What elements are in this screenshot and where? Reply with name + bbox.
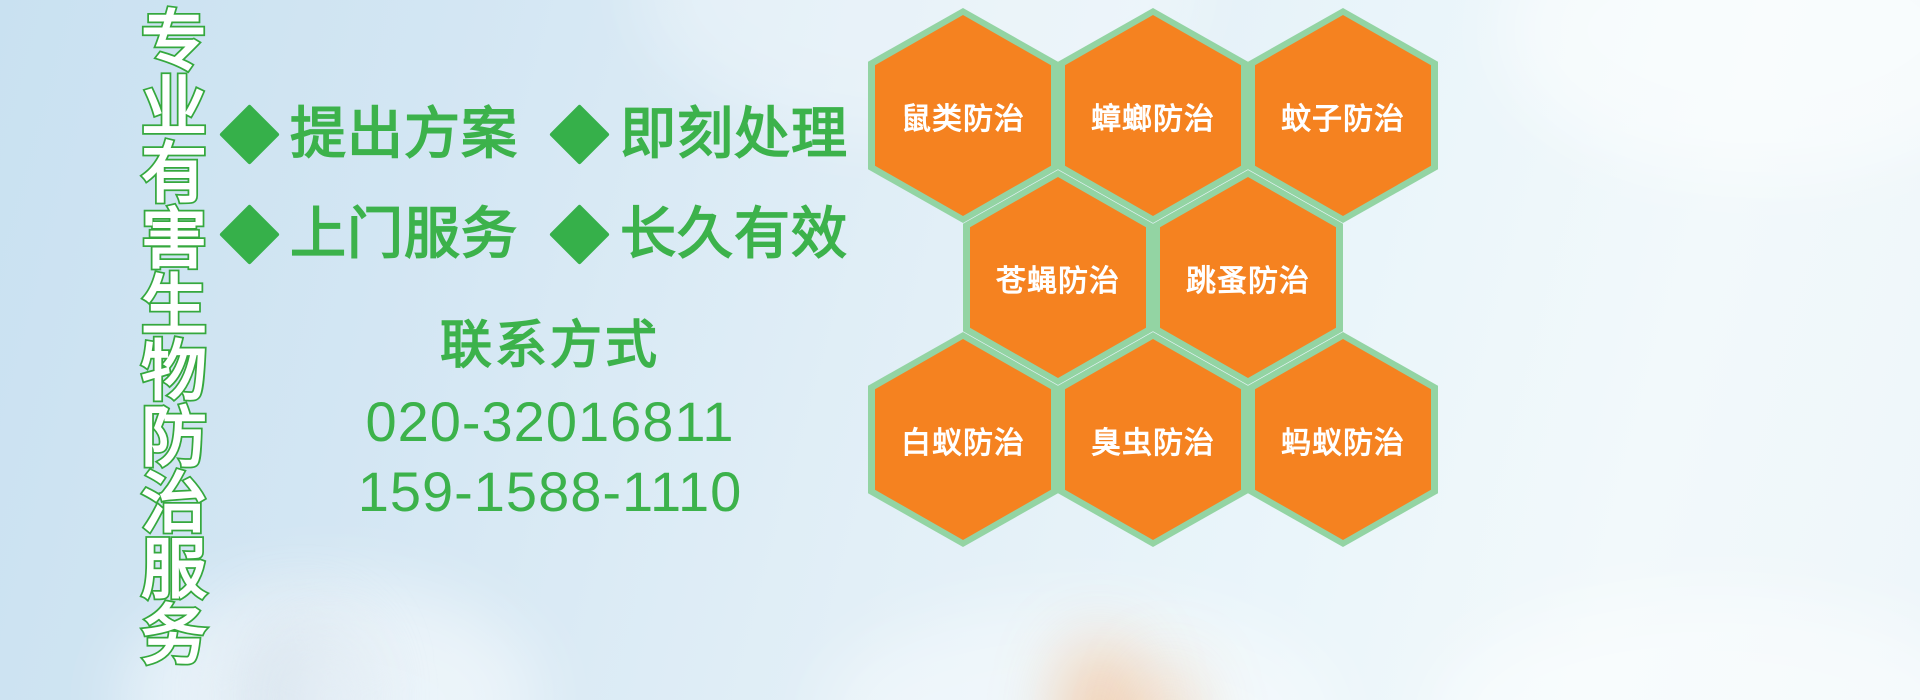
bg-blob <box>1060 640 1140 700</box>
diamond-icon <box>219 104 280 165</box>
feature-label: 上门服务 <box>290 206 518 262</box>
bg-blob <box>1430 590 1920 700</box>
contact-block: 联系方式 020-32016811 159-1588-1110 <box>230 316 870 527</box>
service-honeycomb: 鼠类防治 蟑螂防治 蚊子防治 苍蝇防治 跳蚤防治 白蚁防治 臭虫防治 蚂蚁防治 <box>862 0 1442 570</box>
diamond-icon <box>219 204 280 265</box>
contact-title: 联系方式 <box>230 316 870 377</box>
vertical-headline: 专业有害生物防治服务 <box>103 6 199 558</box>
hex-label: 臭虫防治 <box>1091 418 1215 462</box>
bg-blob <box>1500 0 1920 180</box>
hex-label: 跳蚤防治 <box>1186 256 1310 300</box>
hex-label: 蚊子防治 <box>1281 94 1405 138</box>
phone-number-mobile[interactable]: 159-1588-1110 <box>230 457 870 527</box>
feature-item: 即刻处理 <box>558 106 848 162</box>
hex-label: 鼠类防治 <box>901 94 1025 138</box>
hex-label: 蚂蚁防治 <box>1281 418 1405 462</box>
feature-list: 提出方案 即刻处理 上门服务 长久有效 <box>228 84 868 284</box>
feature-row: 提出方案 即刻处理 <box>228 84 868 184</box>
diamond-icon <box>549 204 610 265</box>
feature-item: 上门服务 <box>228 206 518 262</box>
feature-label: 即刻处理 <box>620 106 848 162</box>
bg-blob <box>240 620 360 700</box>
feature-item: 提出方案 <box>228 106 518 162</box>
phone-number-landline[interactable]: 020-32016811 <box>230 387 870 457</box>
diamond-icon <box>549 104 610 165</box>
bg-blob <box>300 640 360 700</box>
bg-blob <box>1140 660 1200 700</box>
hex-label: 苍蝇防治 <box>996 256 1120 300</box>
hex-label: 蟑螂防治 <box>1091 94 1215 138</box>
hex-label: 白蚁防治 <box>901 418 1025 462</box>
feature-label: 提出方案 <box>290 106 518 162</box>
feature-label: 长久有效 <box>620 206 848 262</box>
feature-row: 上门服务 长久有效 <box>228 184 868 284</box>
bg-blob <box>820 600 1340 700</box>
feature-item: 长久有效 <box>558 206 848 262</box>
